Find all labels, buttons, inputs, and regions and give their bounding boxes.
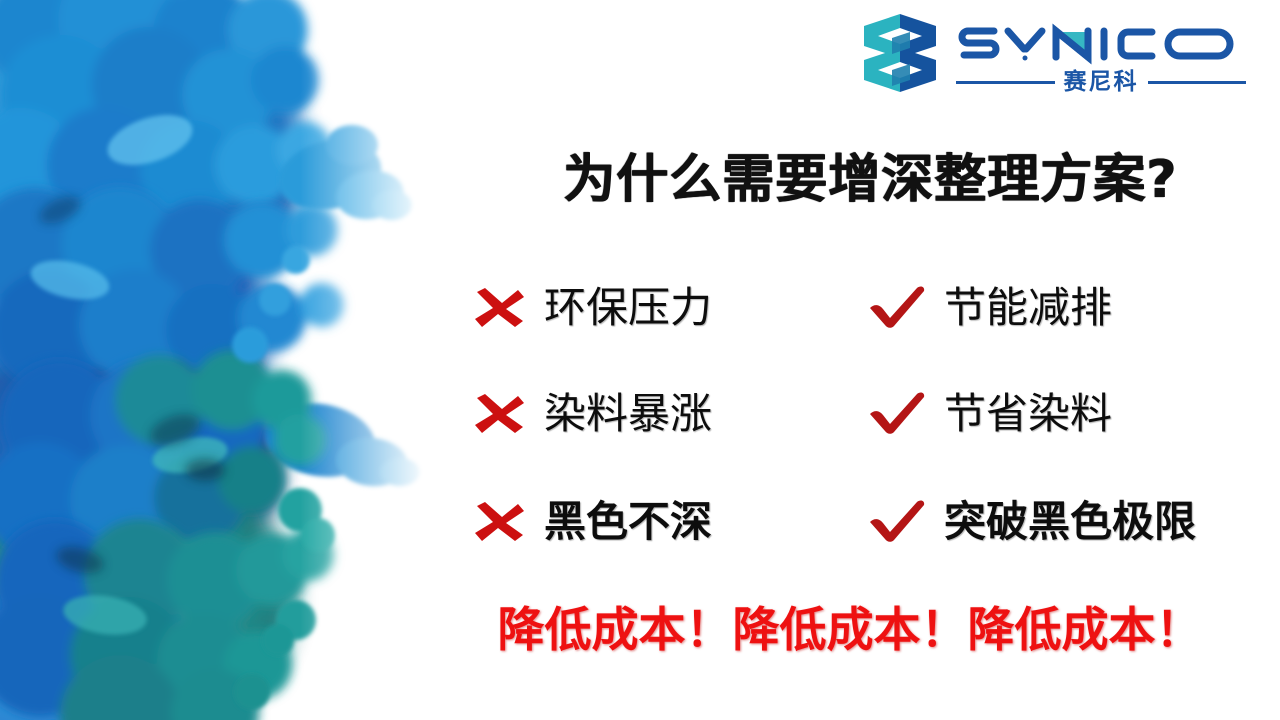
bullet-row: 环保压力 节能减排 <box>468 272 1268 344</box>
problem-label: 环保压力 <box>544 287 712 329</box>
synico-logo: 赛尼科 <box>852 6 1262 106</box>
footer-slogan: 降低成本！降低成本！降低成本！ <box>440 606 1260 655</box>
problem-label: 黑色不深 <box>544 501 712 543</box>
problem-item-0: 环保压力 <box>468 272 868 344</box>
benefit-label: 节能减排 <box>944 287 1112 329</box>
slide-canvas: 赛尼科 为什么需要增深整理方案? 环保压力 <box>0 0 1280 720</box>
logo-subtitle-text: 赛尼科 <box>1055 71 1148 94</box>
benefit-label: 突破黑色极限 <box>944 501 1196 543</box>
benefit-label: 节省染料 <box>944 393 1112 435</box>
synico-wordmark <box>956 19 1246 69</box>
benefit-item-2: 突破黑色极限 <box>868 486 1268 558</box>
blue-ink-smoke-photo <box>0 0 430 720</box>
red-cross-icon <box>468 496 530 548</box>
red-cross-icon <box>468 282 530 334</box>
logo-text-group: 赛尼科 <box>956 19 1246 94</box>
problem-item-1: 染料暴涨 <box>468 378 868 450</box>
page-title: 为什么需要增深整理方案? <box>470 152 1270 209</box>
logo-rule-left <box>956 81 1055 84</box>
red-cross-icon <box>468 388 530 440</box>
benefit-item-0: 节能减排 <box>868 272 1268 344</box>
red-check-icon <box>868 282 930 334</box>
problem-label: 染料暴涨 <box>544 393 712 435</box>
red-check-icon <box>868 388 930 440</box>
bullet-row: 黑色不深 突破黑色极限 <box>468 486 1268 558</box>
logo-subtitle-row: 赛尼科 <box>956 71 1246 94</box>
logo-rule-right <box>1148 81 1247 84</box>
red-check-icon <box>868 496 930 548</box>
problem-item-2: 黑色不深 <box>468 486 868 558</box>
bullet-row: 染料暴涨 节省染料 <box>468 378 1268 450</box>
synico-hexagon-ribbon-mark <box>852 8 948 104</box>
benefit-item-1: 节省染料 <box>868 378 1268 450</box>
bullet-grid: 环保压力 节能减排 染料暴涨 <box>468 272 1268 572</box>
